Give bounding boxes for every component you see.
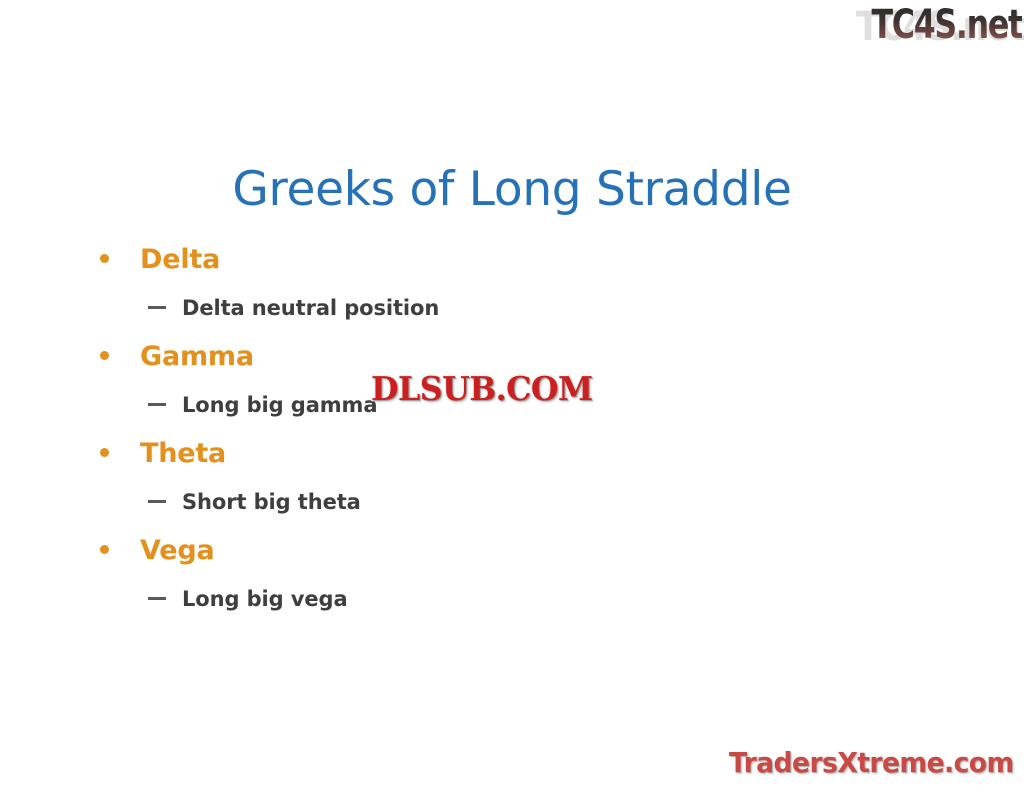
bullet-dot-icon <box>100 448 109 457</box>
tradersxtreme-logo: TradersXtreme.com <box>729 747 1014 779</box>
list-item-sublabel: Long big gamma <box>182 393 377 417</box>
list-item-label: Gamma <box>140 341 254 372</box>
list-item-level1: Theta <box>96 429 936 477</box>
list-item-label: Delta <box>140 244 220 275</box>
list-item-sublabel: Long big vega <box>182 587 348 611</box>
bullet-group-vega: Vega Long big vega <box>96 526 936 623</box>
page-title: Greeks of Long Straddle <box>0 162 1024 217</box>
list-item-level1: Delta <box>96 235 936 283</box>
dash-icon <box>148 306 166 309</box>
list-item-level2: Long big vega <box>96 574 936 623</box>
bullet-group-theta: Theta Short big theta <box>96 429 936 526</box>
dash-icon <box>148 403 166 406</box>
bullet-dot-icon <box>100 545 109 554</box>
list-item-sublabel: Short big theta <box>182 490 361 514</box>
list-item-label: Vega <box>140 535 214 566</box>
list-item-level2: Short big theta <box>96 477 936 526</box>
bullet-dot-icon <box>100 351 109 360</box>
bullet-group-delta: Delta Delta neutral position <box>96 235 936 332</box>
list-item-level1: Vega <box>96 526 936 574</box>
bullet-list: Delta Delta neutral position Gamma Long … <box>96 235 936 623</box>
tc4s-logo-text: TC4S.net <box>872 2 1022 48</box>
list-item-level2: Delta neutral position <box>96 283 936 332</box>
list-item-label: Theta <box>140 438 226 469</box>
bullet-dot-icon <box>100 254 109 263</box>
dash-icon <box>148 597 166 600</box>
list-item-sublabel: Delta neutral position <box>182 296 439 320</box>
dash-icon <box>148 500 166 503</box>
presentation-slide: TC4S.net TC4S.net Greeks of Long Straddl… <box>0 0 1024 791</box>
dlsub-watermark: DLSUB.COM <box>371 371 593 407</box>
